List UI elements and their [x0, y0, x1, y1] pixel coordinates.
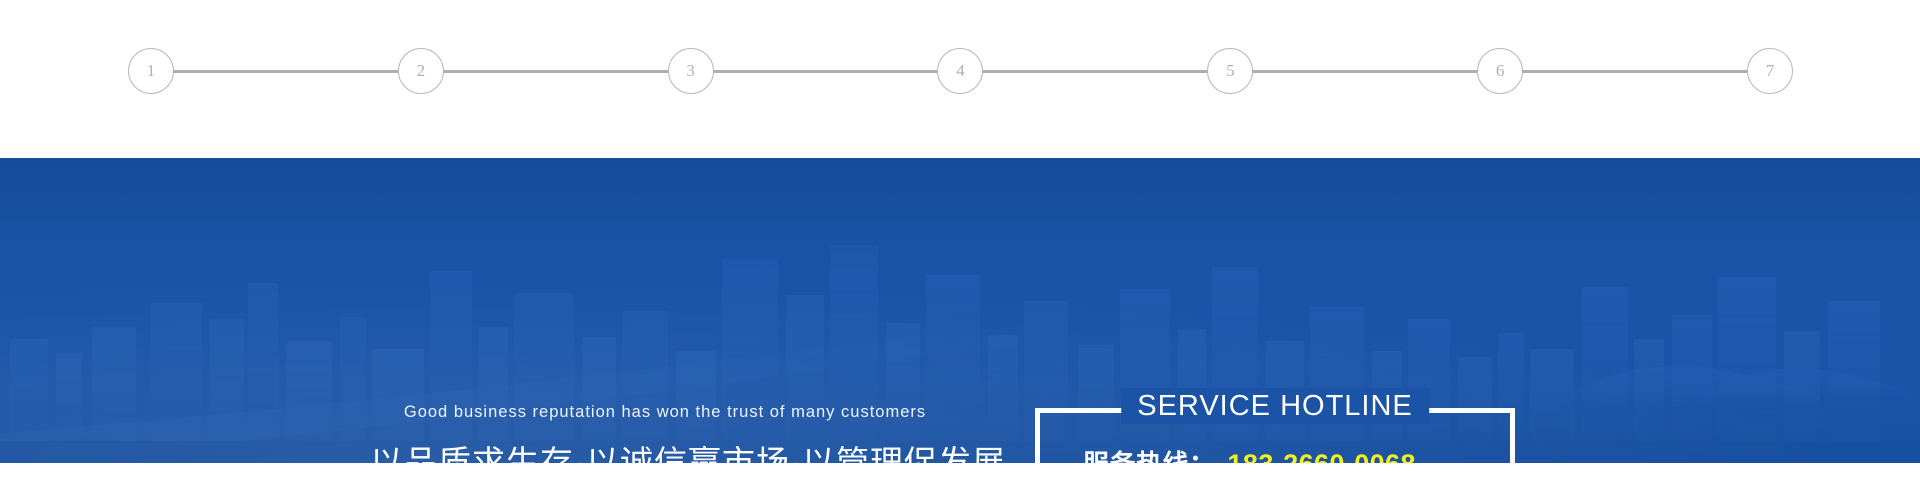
page-root: 1 2 3 4 5 6 7 [0, 0, 1920, 500]
step-connector-1 [173, 70, 399, 73]
step-connector-4 [982, 70, 1208, 73]
step-connector-6 [1522, 70, 1748, 73]
service-hotline-box: SERVICE HOTLINE 服务热线： 183-2660-0068 0551… [1035, 408, 1515, 463]
step-item-3[interactable]: 3 [668, 48, 714, 94]
step-item-5[interactable]: 5 [1207, 48, 1253, 94]
step-item-2[interactable]: 2 [398, 48, 444, 94]
hotline-label: 服务热线： [1083, 444, 1216, 463]
pagination-steps: 1 2 3 4 5 6 7 [0, 0, 1920, 158]
step-item-1[interactable]: 1 [128, 48, 174, 94]
hotline-phone-primary[interactable]: 183-2660-0068 [1228, 449, 1416, 463]
hotline-rows: 服务热线： 183-2660-0068 0551-63749777 [1035, 444, 1515, 463]
step-item-7[interactable]: 7 [1747, 48, 1793, 94]
promo-banner: Good business reputation has won the tru… [0, 158, 1920, 463]
slogan-chinese-main: 以品质求生存·以诚信赢市场·以管理促发展 [370, 436, 960, 463]
step-connector-3 [713, 70, 939, 73]
hotline-row-primary: 服务热线： 183-2660-0068 [1035, 444, 1515, 463]
step-item-6[interactable]: 6 [1477, 48, 1523, 94]
slogan-block: Good business reputation has won the tru… [370, 403, 960, 463]
step-connector-2 [443, 70, 669, 73]
hotline-title: SERVICE HOTLINE [1121, 388, 1429, 424]
city-skyline-background [0, 231, 1920, 441]
step-connector-5 [1252, 70, 1478, 73]
pagination-steps-track: 1 2 3 4 5 6 7 [128, 46, 1793, 96]
step-item-4[interactable]: 4 [937, 48, 983, 94]
slogan-english: Good business reputation has won the tru… [370, 403, 960, 422]
